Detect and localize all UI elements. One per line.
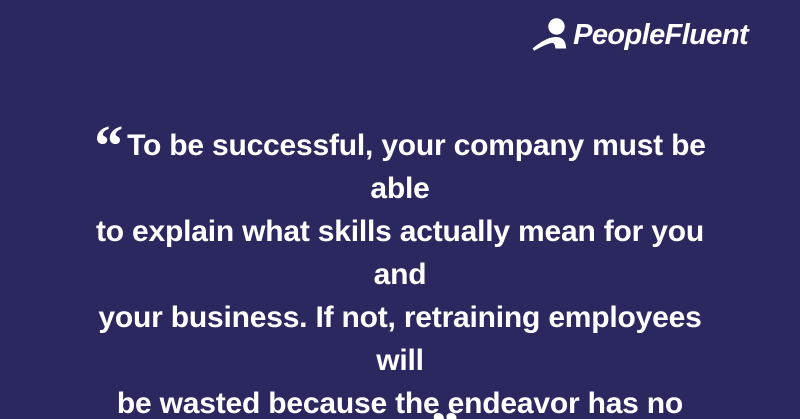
person-silhouette-icon <box>531 17 571 53</box>
quote-line-2: to explain what skills actually mean for… <box>96 215 704 291</box>
close-quote-mark: ” <box>430 400 459 419</box>
quote-line-3: your business. If not, retraining employ… <box>98 301 701 377</box>
quote-line-1: To be successful, your company must be a… <box>127 129 706 205</box>
quote-block: “To be successful, your company must be … <box>74 124 726 419</box>
brand-wordmark: PeopleFluent <box>573 21 748 50</box>
open-quote-mark: “ <box>94 113 123 178</box>
quote-text: “To be successful, your company must be … <box>74 124 726 419</box>
brand-logo: PeopleFluent <box>531 14 748 56</box>
quote-card: PeopleFluent “To be successful, your com… <box>0 0 800 419</box>
quote-line-4: be wasted because the endeavor has no fo… <box>117 387 683 419</box>
